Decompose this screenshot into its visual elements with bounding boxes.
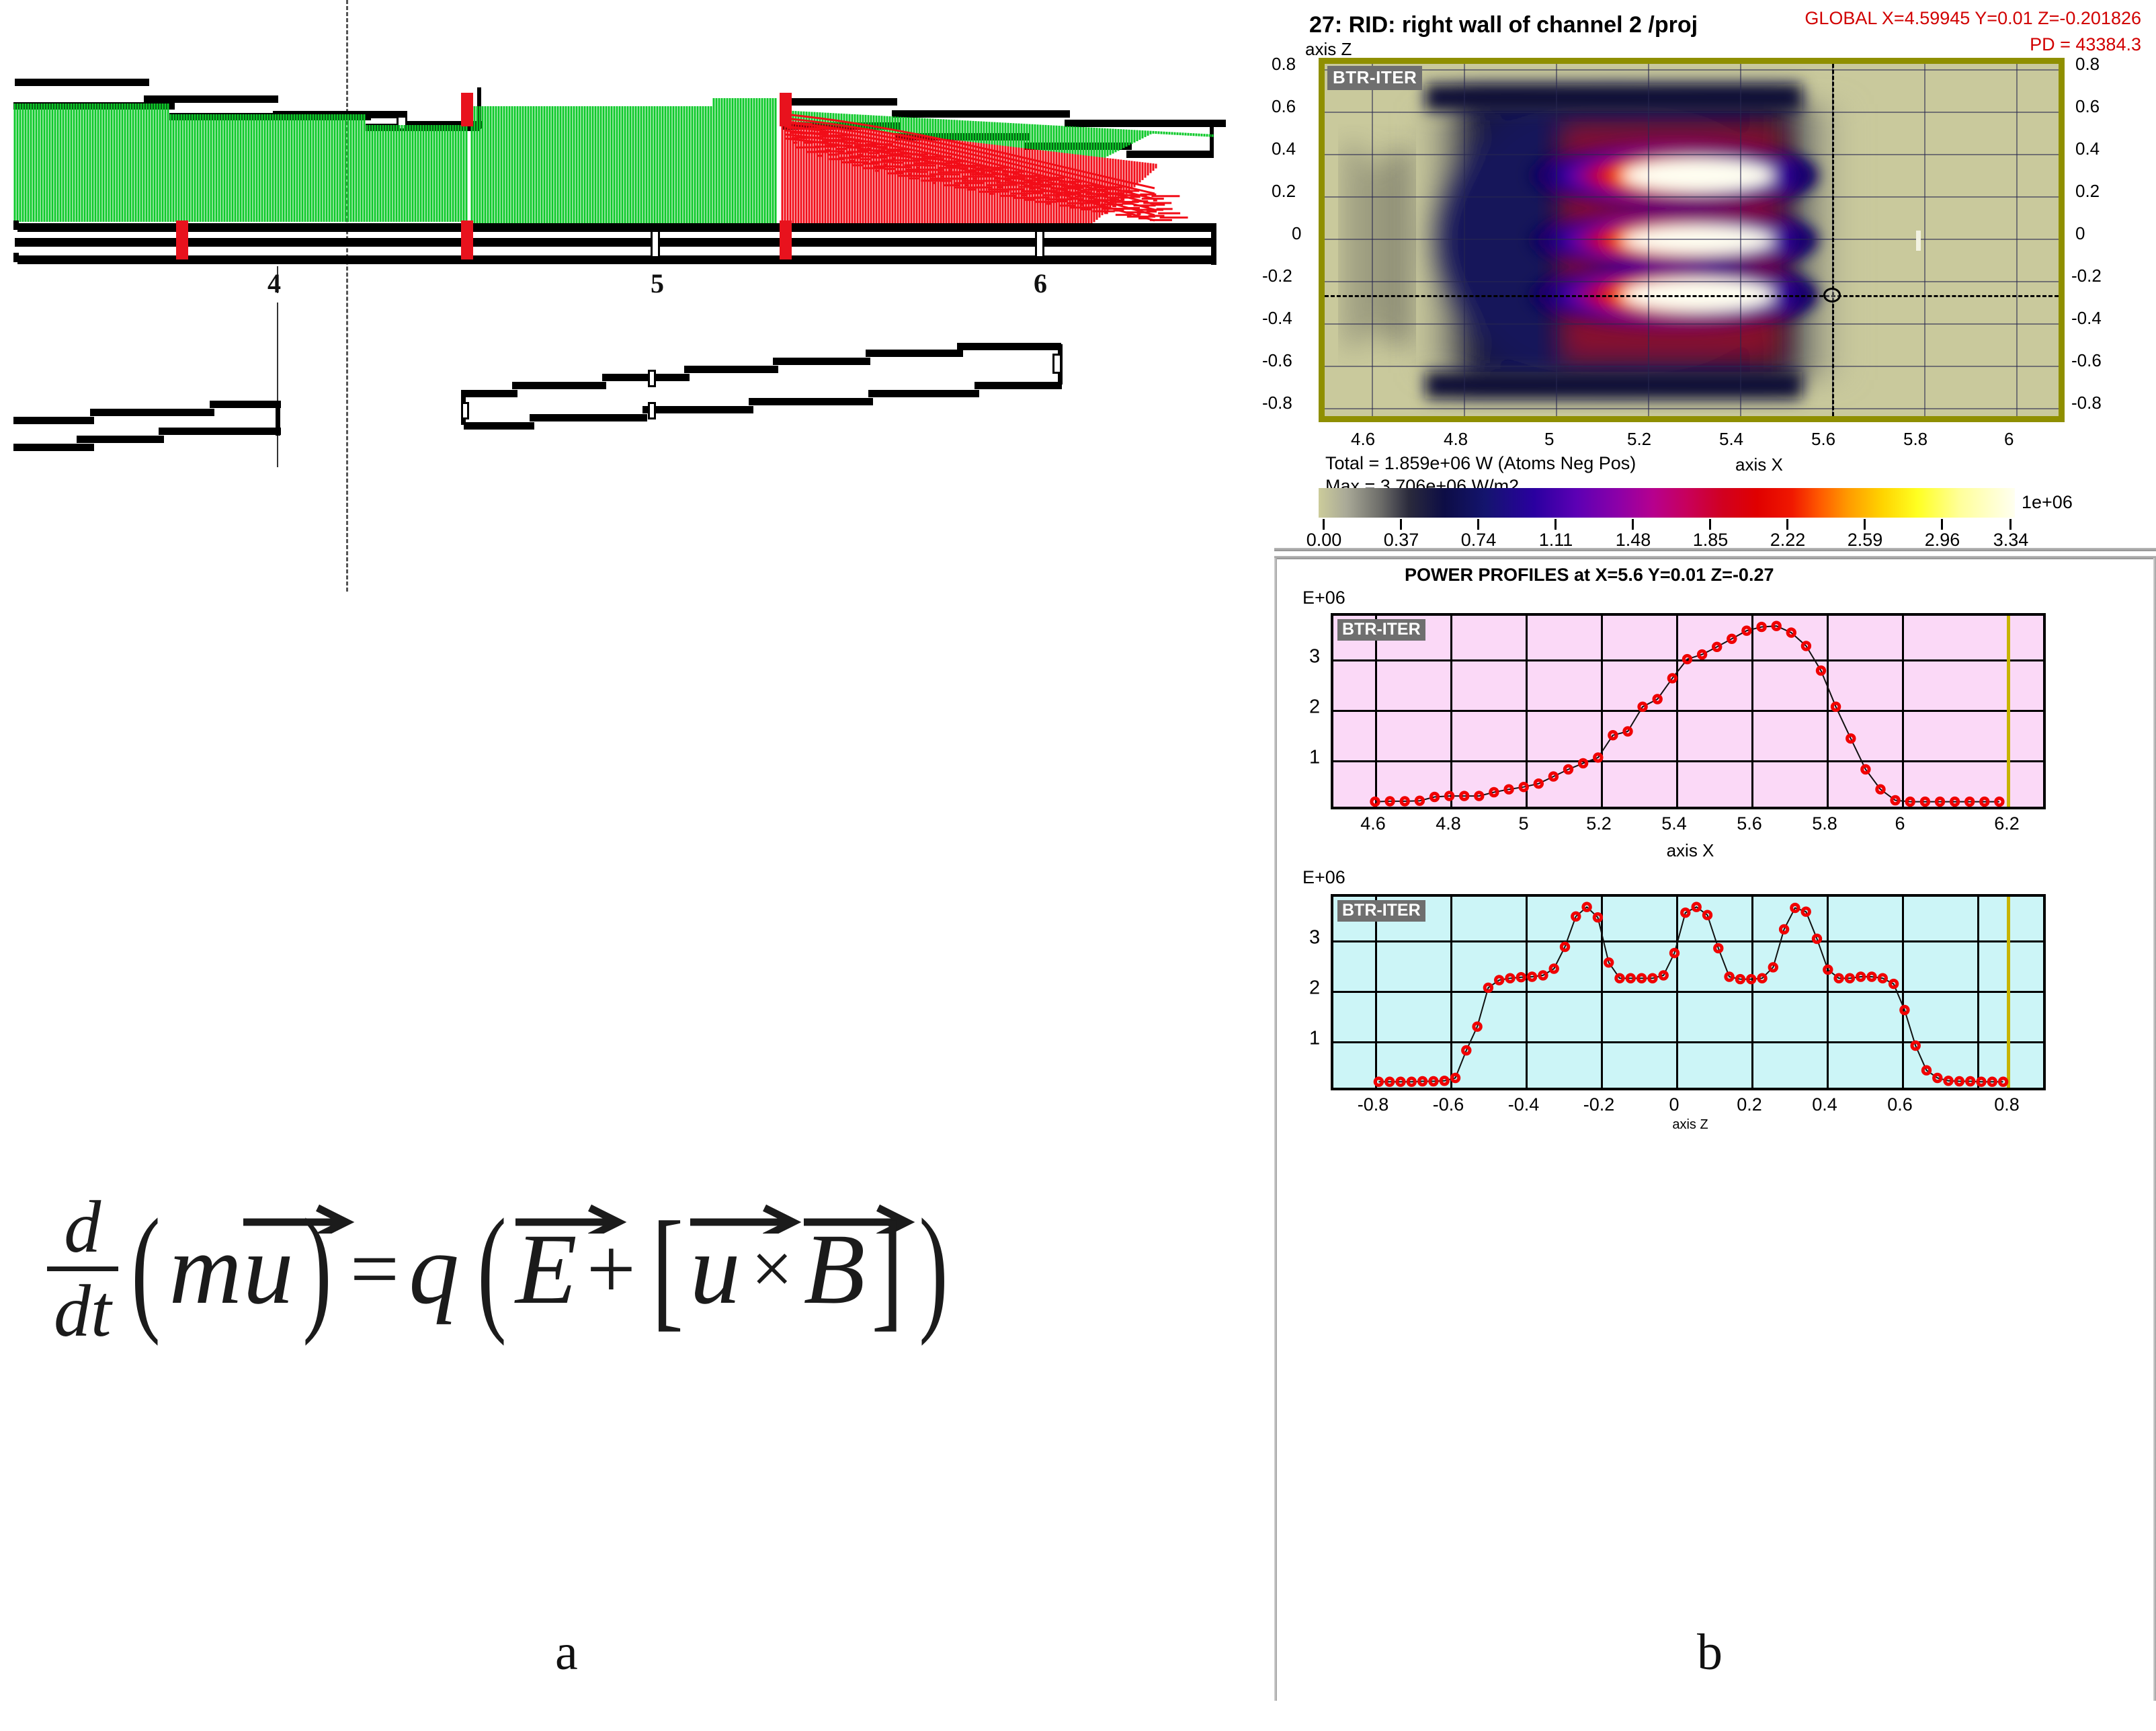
support-step — [77, 436, 164, 443]
heatmap-xtick: 5.2 — [1627, 429, 1651, 450]
equation-bfield-vector: B — [804, 1211, 866, 1327]
heatmap-gridline-v — [1740, 64, 1741, 416]
heatmap-ytick-right: 0.2 — [2075, 181, 2100, 202]
rays-svg — [12, 87, 1215, 232]
aperture-marker-red — [780, 93, 792, 126]
profile-bottom-x-axis-title: axis Z — [1672, 1117, 1708, 1133]
colorbar-tick — [1864, 519, 1866, 530]
heatmap-gridline-v — [1556, 64, 1557, 416]
support-step — [642, 406, 753, 413]
duct-wall-step — [464, 223, 1216, 232]
support-step — [13, 417, 94, 424]
panel-a-letter: a — [555, 1627, 578, 1678]
heatmap-gridline-h — [1325, 239, 2059, 240]
colorbar-tick — [1400, 519, 1402, 530]
support-step — [975, 382, 1062, 389]
heatmap-ytick-left: 0.4 — [1272, 138, 1296, 159]
equation-u-2: u — [690, 1213, 741, 1325]
duct-wall-step — [461, 238, 1216, 247]
heatmap-gridline-h — [1325, 281, 2059, 282]
profile-top-ytick: 3 — [1309, 646, 1320, 668]
heatmap-gridline-h — [1325, 69, 2059, 71]
support-marker — [648, 402, 656, 419]
profile-bottom-xtick: 0 — [1669, 1094, 1679, 1115]
heatmap-title: 27: RID: right wall of channel 2 /proj — [1309, 12, 1698, 38]
paren-open-2: ( — [477, 1225, 506, 1312]
paren-close-1: ) — [302, 1225, 331, 1312]
support-step — [866, 350, 963, 357]
profile-top-ytick: 2 — [1309, 696, 1320, 719]
profile-bottom-xtick: -0.6 — [1433, 1094, 1464, 1115]
global-coordinate-readout: GLOBAL X=4.59945 Y=0.01 Z=-0.201826 PD =… — [1805, 5, 2141, 58]
heatmap-gridline-v — [1648, 64, 1649, 416]
heatmap-ytick-right: 0.4 — [2075, 138, 2100, 159]
support-step — [602, 374, 690, 381]
heatmap-gridline-v — [2016, 64, 2018, 416]
duct-wall-step — [464, 255, 1216, 264]
profile-top-series — [1333, 616, 2043, 807]
wall-marker — [651, 230, 660, 258]
support-step — [13, 444, 94, 451]
marker-stub — [1916, 231, 1921, 251]
support-step — [464, 390, 517, 397]
heatmap-x-axis-title: axis X — [1735, 454, 1783, 475]
equation-cross: × — [751, 1226, 793, 1312]
support-step — [210, 401, 281, 408]
paren-open-1: ( — [131, 1225, 160, 1312]
panel-b-btr-iter-viewer: 27: RID: right wall of channel 2 /proj G… — [1250, 0, 2156, 1731]
heatmap-gridline-v — [1924, 64, 1925, 416]
support-step — [773, 358, 870, 365]
profile-bottom-xtick: -0.8 — [1358, 1094, 1389, 1115]
power-profile-along-x-chart[interactable]: BTR-ITER — [1331, 613, 2046, 809]
support-step — [749, 398, 873, 405]
colorbar[interactable]: 1e+06 0.00 0.37 0.74 1.11 1.48 1.85 2.22… — [1319, 488, 2065, 549]
panel-separator — [1274, 556, 2156, 559]
profile-bottom-series — [1333, 897, 2043, 1088]
global-readout-line: GLOBAL X=4.59945 Y=0.01 Z=-0.201826 — [1805, 5, 2141, 32]
wall-marker — [1035, 230, 1044, 258]
profile-bottom-xtick: -0.4 — [1508, 1094, 1540, 1115]
heatmap-gridline-h — [1325, 112, 2059, 113]
equation-u: u — [243, 1213, 294, 1325]
heatmap-gridline-h — [1325, 154, 2059, 155]
cursor-crosshair-vertical — [1832, 64, 1834, 416]
duct-wall-step — [15, 238, 481, 247]
bracket-close: ] — [872, 1226, 904, 1312]
heatmap-xtick: 4.6 — [1351, 429, 1375, 450]
heatmap-xtick: 5.4 — [1719, 429, 1743, 450]
panel-b-letter: b — [1697, 1627, 1723, 1678]
support-marker — [461, 402, 469, 419]
heatmap-ytick-left: 0.2 — [1272, 181, 1296, 202]
duct-wall-end — [1211, 223, 1216, 265]
heatmap-ytick-right: 0 — [2075, 223, 2085, 244]
heatmap-ytick-right: -0.4 — [2071, 308, 2102, 329]
aperture-marker-red — [461, 93, 473, 126]
equation-equals: = — [350, 1219, 399, 1320]
cursor-marker[interactable] — [1823, 288, 1841, 303]
trajectory-rays — [12, 87, 1215, 232]
colorbar-tick — [1786, 519, 1788, 530]
equation-charge: q — [409, 1211, 459, 1327]
profile-top-xtick: 6.2 — [1994, 813, 2020, 834]
colorbar-gradient — [1319, 488, 2015, 518]
beam-tracing-diagram: 4 5 6 — [0, 40, 1143, 612]
profile-top-unit-label: E+06 — [1302, 588, 1345, 608]
profile-line — [1378, 907, 2003, 1082]
aperture-marker-red — [461, 220, 473, 259]
support-end — [276, 401, 280, 436]
support-step — [512, 382, 606, 389]
profile-top-xtick: 5.2 — [1586, 813, 1612, 834]
profile-top-x-axis-title: axis X — [1667, 840, 1714, 861]
profile-bottom-ytick: 1 — [1309, 1028, 1320, 1050]
colorbar-tick — [1477, 519, 1479, 530]
heatmap-total-label: Total = 1.859e+06 W (Atoms Neg Pos) — [1325, 453, 1636, 474]
profile-data-point — [1372, 798, 1378, 805]
equation-mass: m — [169, 1211, 243, 1327]
heatmap-ytick-left: -0.8 — [1262, 393, 1292, 413]
profile-top-xtick: 5.8 — [1812, 813, 1837, 834]
heatmap-y-axis-title: axis Z — [1305, 39, 1352, 60]
profile-top-xtick: 4.8 — [1436, 813, 1461, 834]
heatmap-xtick: 5 — [1544, 429, 1554, 450]
heatmap-field — [1325, 64, 2059, 416]
heatmap-ytick-left: 0.8 — [1272, 54, 1296, 75]
colorbar-tick — [1632, 519, 1634, 530]
heatmap-ytick-left: 0 — [1292, 223, 1301, 244]
heatmap-gridline-v — [1372, 64, 1373, 416]
support-step — [868, 390, 979, 397]
equation-velocity-vector: u — [243, 1211, 294, 1327]
heatmap-canvas: BTR-ITER — [1325, 64, 2059, 416]
heatmap-ytick-right: 0.6 — [2075, 96, 2100, 117]
equation-B: B — [804, 1213, 866, 1325]
profile-top-xtick: 5 — [1518, 813, 1528, 834]
profile-bottom-ytick: 2 — [1309, 977, 1320, 1000]
support-step — [530, 414, 647, 421]
profile-top-xtick: 6 — [1895, 813, 1905, 834]
heatmap-gridline-h — [1325, 366, 2059, 367]
power-profiles-title: POWER PROFILES at X=5.6 Y=0.01 Z=-0.27 — [1405, 565, 1774, 586]
support-step — [957, 343, 1061, 350]
support-step — [159, 428, 281, 435]
colorbar-tick — [1941, 519, 1943, 530]
profile-line — [1375, 626, 1999, 801]
heatmap-ytick-right: -0.6 — [2071, 350, 2102, 371]
station-4-extension — [277, 303, 278, 467]
station-number-6: 6 — [1034, 268, 1047, 299]
paren-close-2: ) — [919, 1225, 948, 1312]
aperture-marker-red — [780, 220, 792, 259]
profile-bottom-xtick: 0.6 — [1887, 1094, 1913, 1115]
profile-data-point — [1375, 1078, 1382, 1085]
equation-E: E — [515, 1213, 577, 1325]
heatmap-ytick-left: -0.4 — [1262, 308, 1292, 329]
profile-top-xtick: 5.6 — [1737, 813, 1762, 834]
support-step — [684, 366, 778, 373]
panel-separator-vertical — [1274, 558, 1277, 1701]
station-number-4: 4 — [267, 268, 281, 299]
equation-efield-vector: E — [515, 1211, 577, 1327]
aperture-marker-red — [176, 220, 188, 259]
heatmap-xtick: 5.8 — [1903, 429, 1927, 450]
profile-bottom-ytick: 3 — [1309, 927, 1320, 949]
colorbar-tick — [1323, 519, 1325, 530]
heatmap-ytick-left: -0.6 — [1262, 350, 1292, 371]
profile-bottom-xtick: 0.2 — [1737, 1094, 1762, 1115]
profile-bottom-xtick: 0.8 — [1994, 1094, 2020, 1115]
equation-plus: + — [587, 1219, 636, 1320]
cursor-crosshair-horizontal — [1325, 295, 2059, 297]
profile-bottom-xtick: 0.4 — [1812, 1094, 1837, 1115]
station-number-5: 5 — [651, 268, 664, 299]
panel-a-beam-tracing: 4 5 6 d dt — [0, 0, 1250, 1731]
heatmap-hotspots-overlay — [1540, 145, 1809, 326]
profile-bottom-unit-label: E+06 — [1302, 867, 1345, 888]
power-profile-along-z-chart[interactable]: BTR-ITER — [1331, 894, 2046, 1090]
duct-wall-step — [17, 223, 481, 232]
heatmap-ytick-left: -0.2 — [1262, 266, 1292, 286]
colorbar-tick — [1554, 519, 1557, 530]
heatmap-watermark-badge: BTR-ITER — [1327, 66, 1422, 90]
lorentz-force-equation: d dt ( m u ) = q ( E + [ u × — [47, 1190, 957, 1348]
heatmap-gridline-h — [1325, 323, 2059, 325]
bracket-open: [ — [651, 1226, 683, 1312]
heatmap-gridline-h — [1325, 196, 2059, 198]
support-marker — [1052, 354, 1062, 374]
equation-velocity-vector-2: u — [690, 1211, 741, 1327]
profile-data-point — [1999, 1078, 2006, 1085]
heatmap-ytick-right: -0.2 — [2071, 266, 2102, 286]
power-density-heatmap[interactable]: BTR-ITER — [1319, 58, 2065, 422]
profile-top-ytick: 1 — [1309, 747, 1320, 769]
heatmap-gridline-v — [1464, 64, 1465, 416]
profile-top-xtick: 5.4 — [1661, 813, 1687, 834]
panel-separator — [1274, 548, 2156, 551]
equation-dt: dt — [47, 1266, 118, 1348]
heatmap-ghost-columns — [1345, 145, 1409, 346]
duct-wall-step — [17, 255, 481, 264]
duct-wall-step — [15, 79, 149, 86]
support-step — [90, 409, 214, 416]
support-marker — [648, 370, 656, 387]
panel-separator-vertical — [2153, 558, 2156, 1701]
heatmap-ytick-right: 0.8 — [2075, 54, 2100, 75]
equation-d: d — [57, 1190, 108, 1266]
colorbar-tick — [2009, 519, 2012, 530]
heatmap-ytick-right: -0.8 — [2071, 393, 2102, 413]
heatmap-gridline-h — [1325, 408, 2059, 409]
heatmap-xtick: 4.8 — [1444, 429, 1468, 450]
colorbar-scale-label: 1e+06 — [2022, 492, 2073, 513]
heatmap-xtick: 5.6 — [1811, 429, 1835, 450]
profile-top-xtick: 4.6 — [1360, 813, 1386, 834]
profile-bottom-xtick: -0.2 — [1583, 1094, 1615, 1115]
colorbar-tick — [1709, 519, 1711, 530]
heatmap-ytick-left: 0.6 — [1272, 96, 1296, 117]
heatmap-xtick: 6 — [2004, 429, 2014, 450]
support-step — [464, 422, 534, 430]
equation-derivative: d dt — [47, 1190, 118, 1348]
